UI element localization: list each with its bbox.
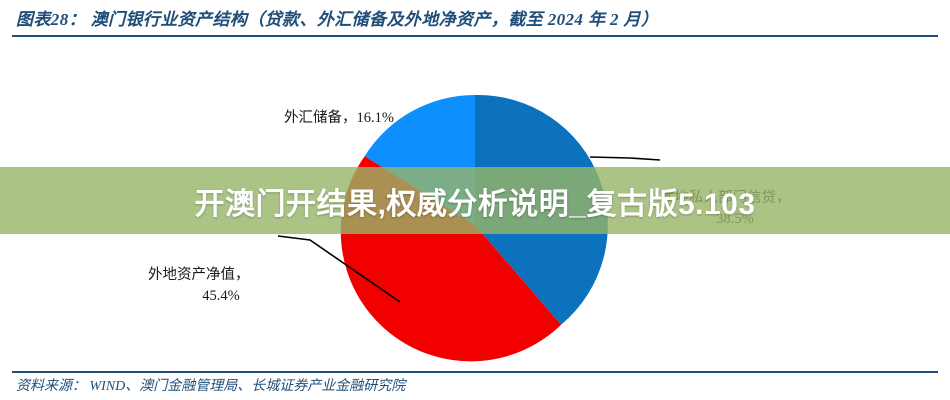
- data-label-external-assets-value: 45.4%: [154, 286, 288, 307]
- data-label-external-assets-name: 外地资产净值，: [148, 267, 250, 283]
- watermark-band: [0, 167, 950, 234]
- source-divider: [12, 371, 938, 373]
- page-title: 图表28： 澳门银行业资产结构（贷款、外汇储备及外地净资产，截至 2024 年 …: [16, 8, 934, 32]
- leader-line-private-credit: [590, 157, 660, 160]
- data-label-external-assets: 外地资产净值， 45.4%: [148, 265, 288, 307]
- source-note: 资料来源： WIND、澳门金融管理局、长城证券产业金融研究院: [16, 378, 405, 396]
- data-label-fx-reserves: 外汇储备，16.1%: [284, 108, 394, 129]
- title-divider: [12, 35, 938, 37]
- chart-figure: 图表28： 澳门银行业资产结构（贷款、外汇储备及外地净资产，截至 2024 年 …: [0, 0, 950, 400]
